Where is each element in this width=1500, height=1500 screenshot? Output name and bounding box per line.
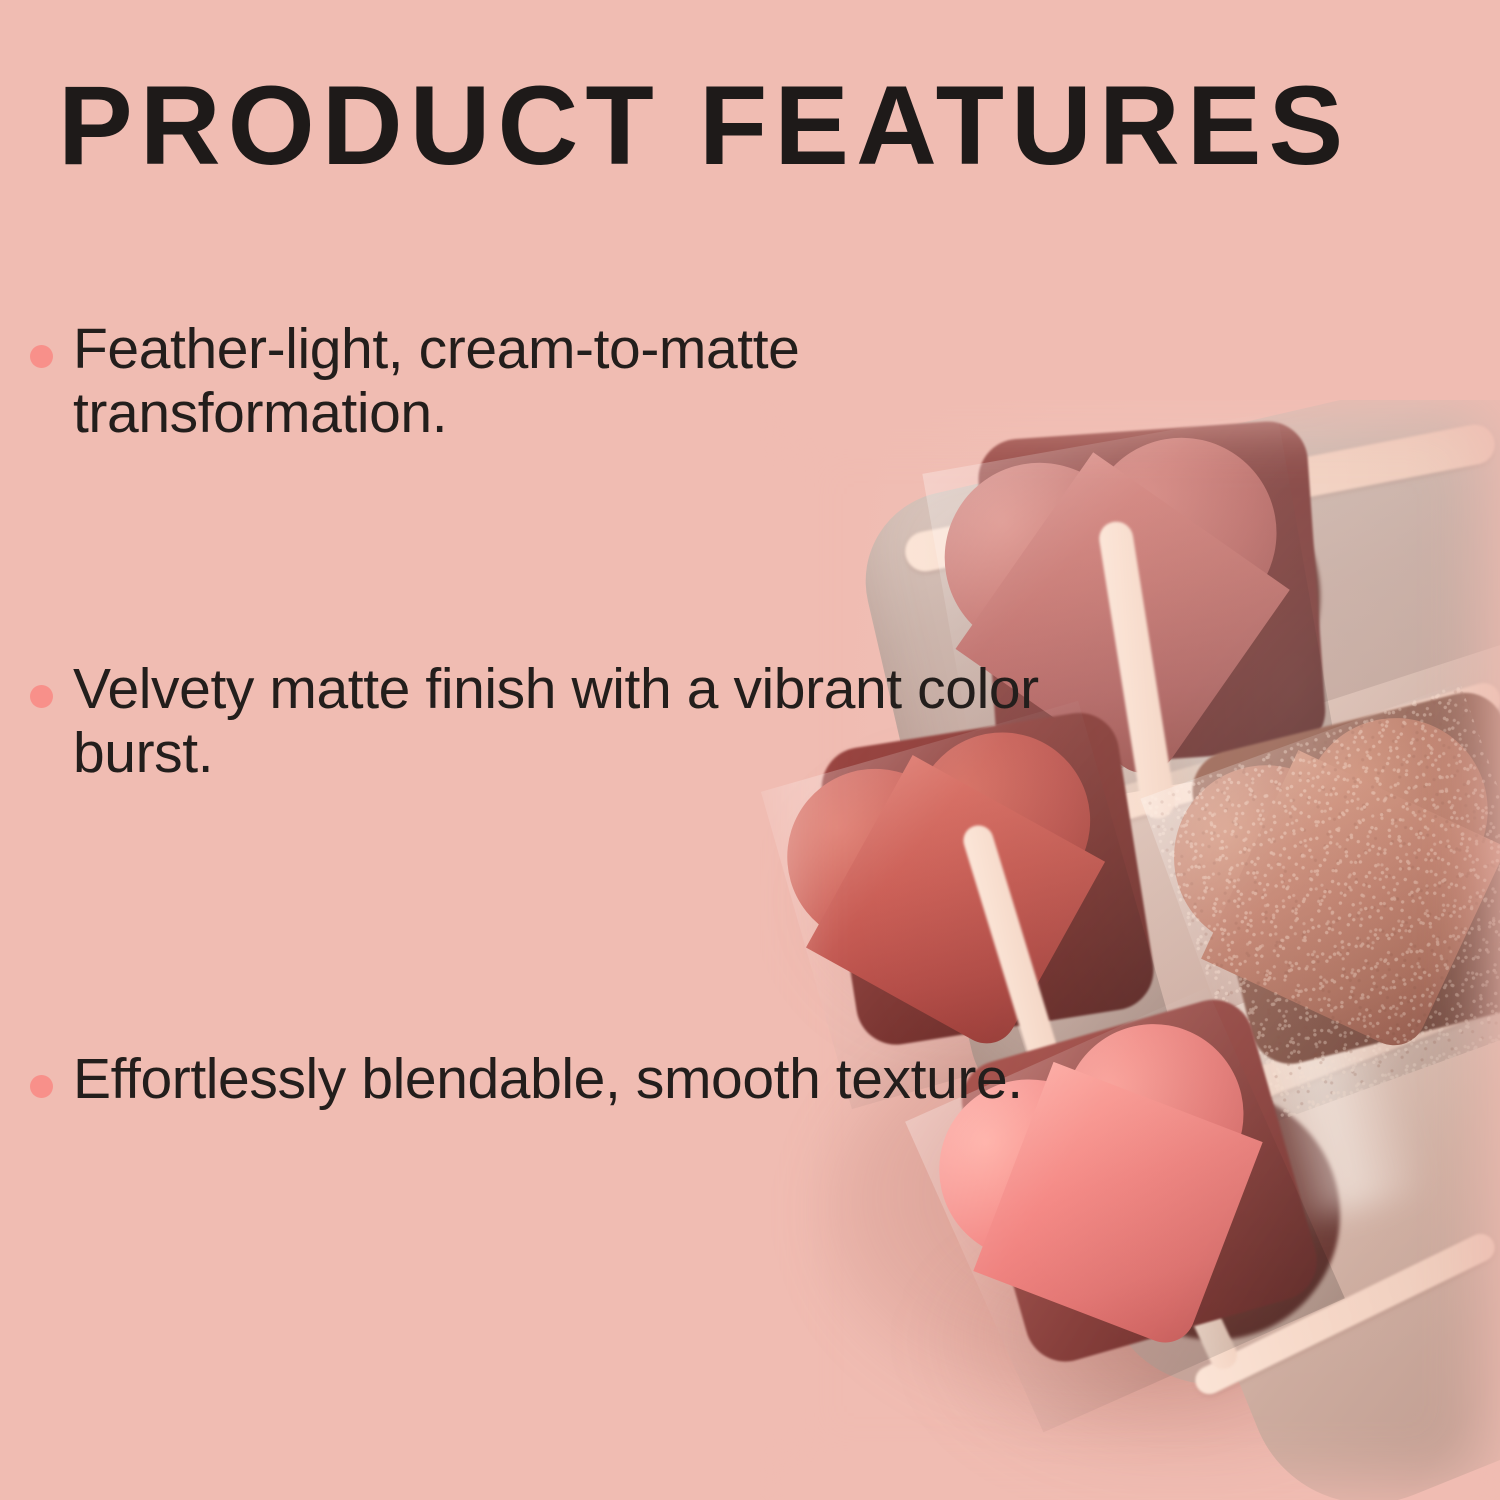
bullet-dot-icon [30, 345, 53, 368]
feature-text: Feather-light, cream-to-matte transforma… [73, 318, 1083, 446]
product-features-page: PRODUCT FEATURES Feather-light, cream-to… [0, 0, 1500, 1500]
feature-text: Effortlessly blendable, smooth texture. [73, 1048, 1023, 1112]
bullet-dot-icon [30, 1075, 53, 1098]
page-title: PRODUCT FEATURES [58, 70, 1358, 182]
feature-text: Velvety matte finish with a vibrant colo… [73, 658, 1083, 786]
list-item: Feather-light, cream-to-matte transforma… [30, 318, 1083, 446]
bullet-dot-icon [30, 685, 53, 708]
list-item: Velvety matte finish with a vibrant colo… [30, 658, 1083, 786]
product-photo [760, 400, 1500, 1500]
list-item: Effortlessly blendable, smooth texture. [30, 1048, 1023, 1112]
